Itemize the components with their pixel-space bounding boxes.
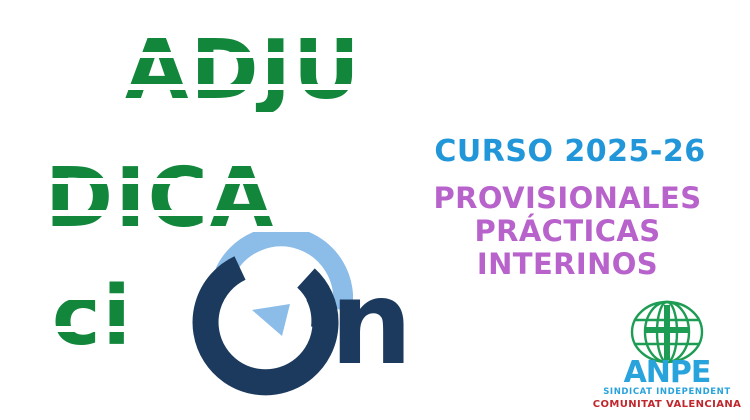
subject-line-practicas: PRÁCTICAS bbox=[390, 215, 745, 248]
subject-line-provisionales: PROVISIONALES bbox=[390, 182, 745, 215]
headline-line-dica: DICA bbox=[45, 158, 275, 240]
headline-line-ci: ci bbox=[52, 276, 133, 358]
anpe-tagline: SINDICAT INDEPENDENT bbox=[592, 387, 742, 397]
brandmark-letter-n: n bbox=[330, 266, 413, 382]
navy-ring-icon bbox=[206, 268, 326, 382]
navy-ring-segment-icon bbox=[318, 294, 324, 328]
inner-wedge-icon bbox=[252, 304, 290, 336]
o-ring-logo-icon bbox=[178, 232, 353, 407]
anpe-region: COMUNITAT VALENCIANA bbox=[592, 399, 742, 410]
subject-heading-block: PROVISIONALES PRÁCTICAS INTERINOS bbox=[390, 182, 745, 280]
course-year-heading: CURSO 2025-26 bbox=[400, 134, 740, 169]
anpe-acronym: ANPE bbox=[592, 358, 742, 388]
subject-line-interinos: INTERINOS bbox=[390, 248, 745, 281]
headline-line-adju: ADJU bbox=[125, 30, 362, 112]
anpe-logo: ANPE SINDICAT INDEPENDENT COMUNITAT VALE… bbox=[592, 298, 742, 416]
poster-canvas: ADJU DICA ci n CURSO 2025-26 PROVISIONAL… bbox=[0, 0, 750, 420]
